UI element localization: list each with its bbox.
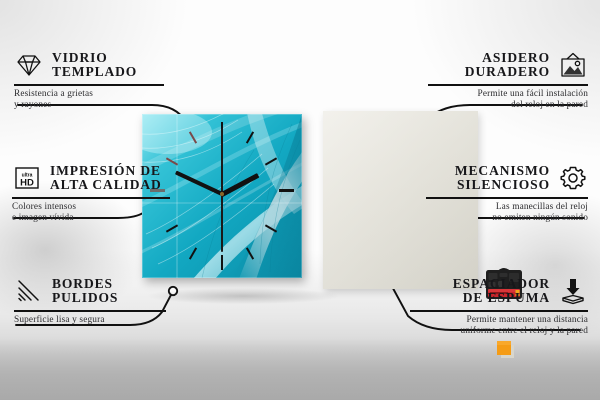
feature-header: ultra HD IMPRESIÓN DE ALTA CALIDAD [12,163,170,193]
feature-description: Permite una fácil instalación del reloj … [428,89,588,111]
ultra-hd-icon: ultra HD [12,163,42,193]
feature-bordes-pulidos: BORDES PULIDOS Superficie lisa y segura [14,276,166,326]
feature-title: ASIDERO DURADERO [465,51,550,80]
infographic-canvas: VIDRIO TEMPLADO Resistencia a grietas y … [0,0,600,400]
feature-title: MECANISMO SILENCIOSO [455,164,550,193]
feature-divider [12,197,170,199]
clock-second-hand [221,128,223,252]
picture-frame-hanging-icon [558,50,588,80]
foam-spacer [497,341,514,358]
feature-divider [410,310,588,312]
feature-description: Permite mantener una distancia uniforme … [410,315,588,337]
feature-description: Resistencia a grietas y rayones [14,89,164,111]
gear-icon [558,163,588,193]
feature-espaciador-de-espuma: ESPACIADOR DE ESPUMA Permite mantener un… [410,276,588,337]
feature-description: Las manecillas del reloj no emiten ningú… [426,202,588,224]
clock-tick-3 [279,189,294,192]
feature-header: BORDES PULIDOS [14,276,166,306]
clock-center-hub [220,192,224,196]
feature-header: ESPACIADOR DE ESPUMA [410,276,588,306]
diamond-icon [14,50,44,80]
arrow-press-pad-icon [558,276,588,306]
feature-divider [428,84,588,86]
feature-description: Superficie lisa y segura [14,315,166,326]
product-ground-shadow [148,288,338,304]
feature-mecanismo-silencioso: MECANISMO SILENCIOSO Las manecillas del … [426,163,588,224]
feature-asidero-duradero: ASIDERO DURADERO Permite una fácil insta… [428,50,588,111]
feature-header: VIDRIO TEMPLADO [14,50,164,80]
feature-title: VIDRIO TEMPLADO [52,51,137,80]
feature-impresion-alta-calidad: ultra HD IMPRESIÓN DE ALTA CALIDAD Color… [12,163,170,224]
feature-title: BORDES PULIDOS [52,277,118,306]
feature-description: Colores intensos e imagen vívida [12,202,170,224]
svg-text:HD: HD [20,177,34,188]
feature-header: MECANISMO SILENCIOSO [426,163,588,193]
diagonal-lines-icon [14,276,44,306]
feature-divider [14,84,164,86]
feature-divider [14,310,166,312]
feature-title: IMPRESIÓN DE ALTA CALIDAD [50,164,162,193]
feature-header: ASIDERO DURADERO [428,50,588,80]
feature-title: ESPACIADOR DE ESPUMA [453,277,550,306]
clock-tick-6 [221,255,223,270]
feature-vidrio-templado: VIDRIO TEMPLADO Resistencia a grietas y … [14,50,164,111]
feature-divider [426,197,588,199]
